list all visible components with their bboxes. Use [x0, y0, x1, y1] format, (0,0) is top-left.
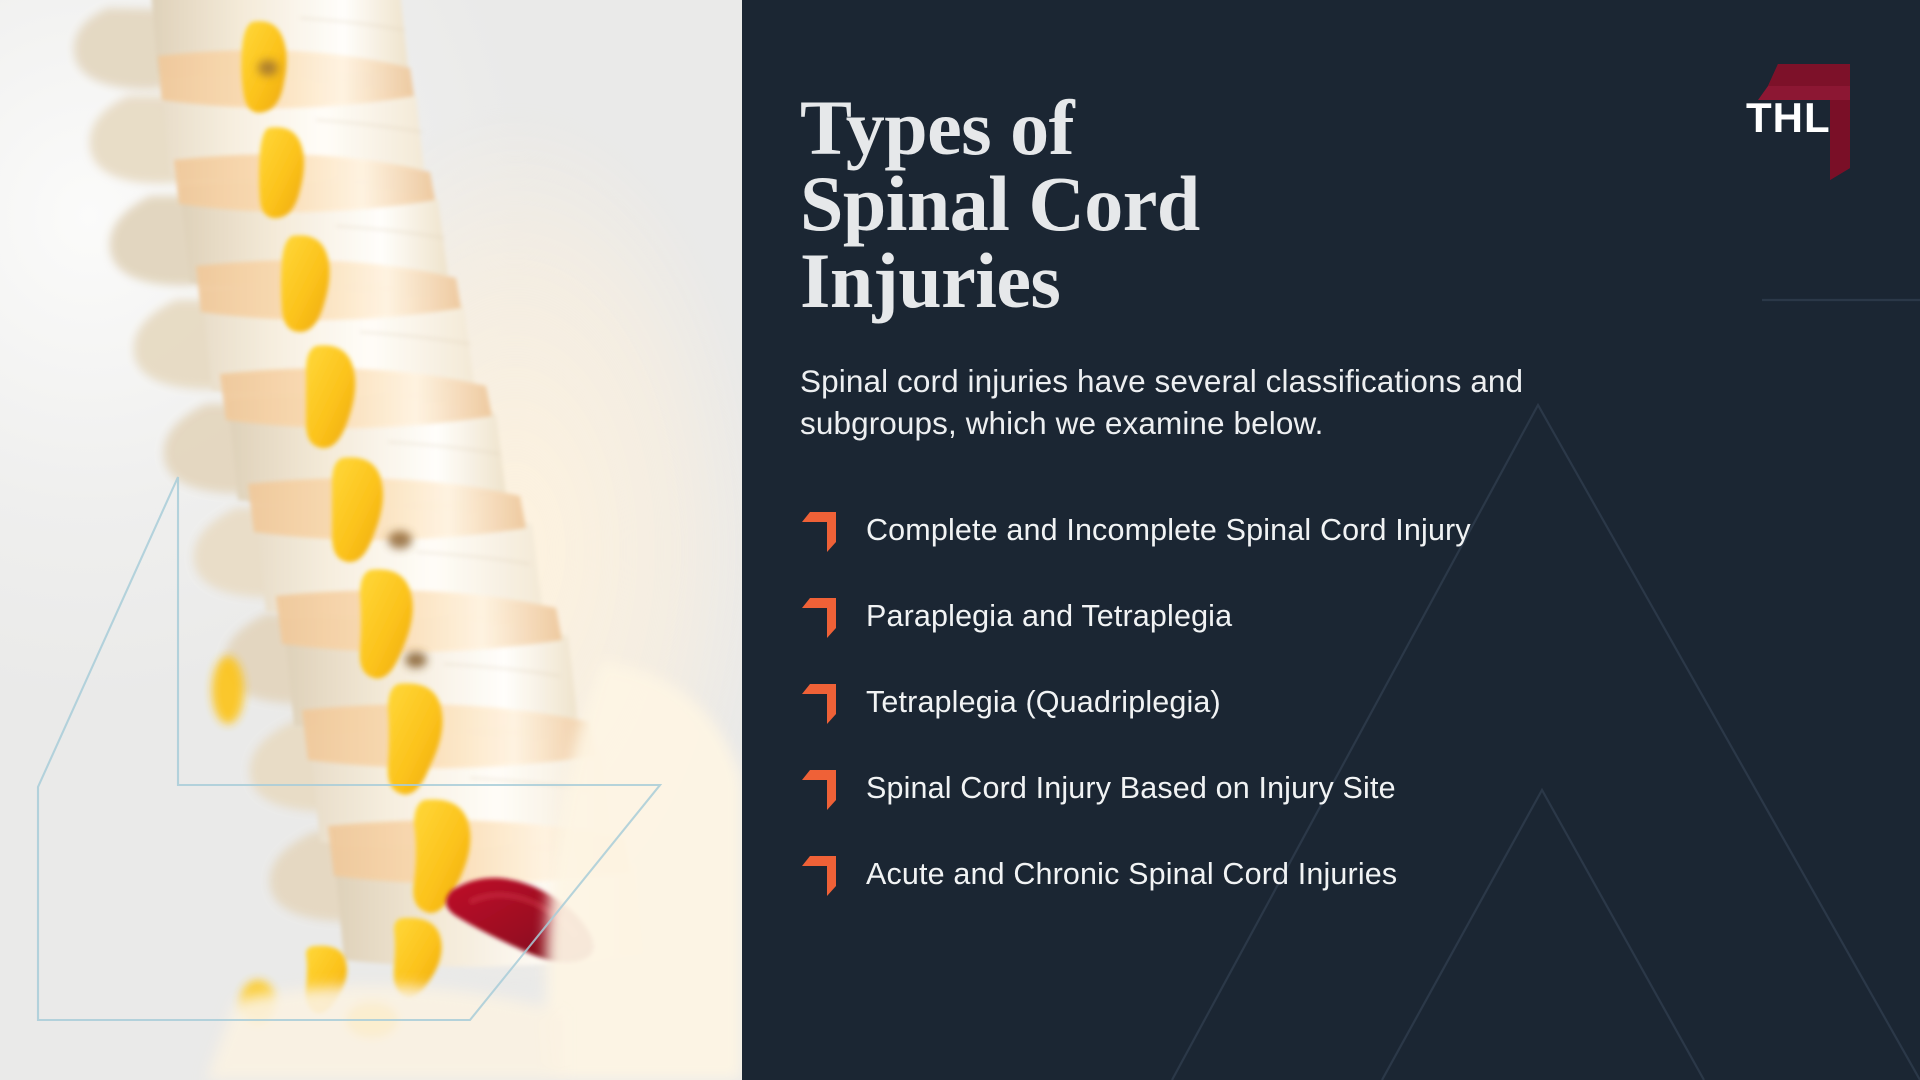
subtitle-line-1: Spinal cord injuries have several classi… [800, 363, 1523, 399]
title-line-2: Spinal Cord [800, 166, 1560, 242]
list-item[interactable]: Tetraplegia (Quadriplegia) [800, 660, 1860, 746]
list-item[interactable]: Spinal Cord Injury Based on Injury Site [800, 746, 1860, 832]
page-title: Types of Spinal Cord Injuries [800, 90, 1560, 319]
arrow-corner-icon [800, 768, 840, 810]
arrow-corner-icon [800, 596, 840, 638]
spine-model-photo [0, 0, 742, 1080]
list-item-label: Spinal Cord Injury Based on Injury Site [866, 771, 1396, 806]
list-item[interactable]: Complete and Incomplete Spinal Cord Inju… [800, 488, 1860, 574]
title-line-3: Injuries [800, 243, 1560, 319]
subtitle-line-2: subgroups, which we examine below. [800, 405, 1323, 441]
list-item-label: Complete and Incomplete Spinal Cord Inju… [866, 513, 1471, 548]
arrow-corner-icon [800, 510, 840, 552]
subtitle: Spinal cord injuries have several classi… [800, 361, 1860, 444]
thl-logo-text: THL [1746, 94, 1831, 141]
arrow-corner-icon [800, 854, 840, 896]
list-item-label: Acute and Chronic Spinal Cord Injuries [866, 857, 1397, 892]
list-item-label: Tetraplegia (Quadriplegia) [866, 685, 1221, 720]
list-item[interactable]: Acute and Chronic Spinal Cord Injuries [800, 832, 1860, 918]
list-item[interactable]: Paraplegia and Tetraplegia [800, 574, 1860, 660]
injury-types-list: Complete and Incomplete Spinal Cord Inju… [800, 488, 1860, 918]
spine-photo-panel [0, 0, 742, 1080]
list-item-label: Paraplegia and Tetraplegia [866, 599, 1232, 634]
thl-logo[interactable]: THL [1732, 48, 1868, 180]
arrow-corner-icon [800, 682, 840, 724]
infographic-root: THL Types of Spinal Cord Injuries Spinal… [0, 0, 1920, 1080]
title-line-1: Types of [800, 90, 1560, 166]
content-panel: THL Types of Spinal Cord Injuries Spinal… [742, 0, 1920, 1080]
